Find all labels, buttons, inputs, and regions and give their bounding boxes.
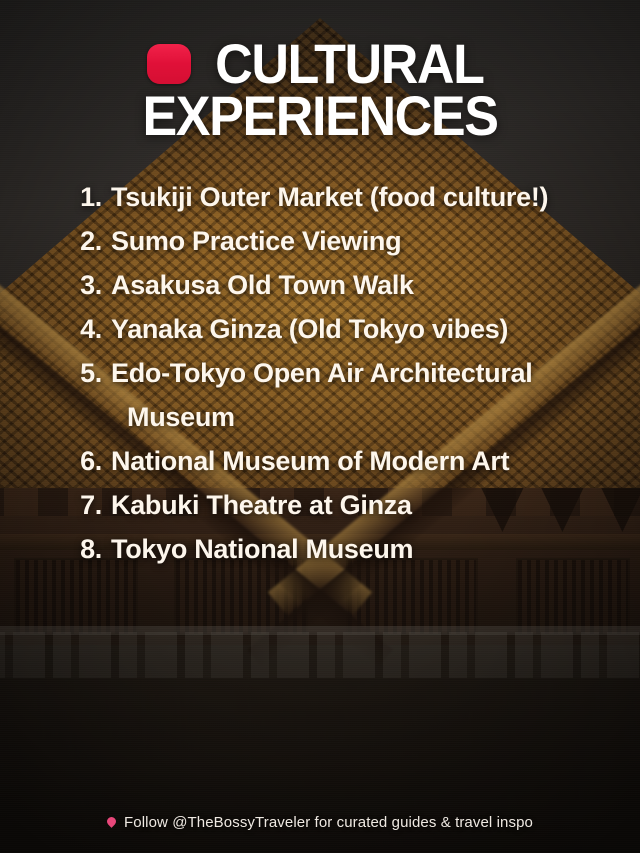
list-item-number: 6. [60,439,102,483]
footer-text: Follow @TheBossyTraveler for curated gui… [124,814,533,831]
list-item-number: 4. [60,307,102,351]
list-item-number: 1. [60,175,102,219]
list-item-label-line-2: Museum [127,395,570,439]
list-item-label: Kabuki Theatre at Ginza [111,483,570,527]
experience-list: 1. Tsukiji Outer Market (food culture!) … [60,175,580,571]
list-item: 7. Kabuki Theatre at Ginza [60,483,570,527]
list-item-number: 2. [60,219,102,263]
list-item-label: Sumo Practice Viewing [111,219,570,263]
location-pin-icon [105,815,118,828]
list-item-label: Yanaka Ginza (Old Tokyo vibes) [111,307,570,351]
list-item-label-line-1: Edo-Tokyo Open Air Architectural [111,358,532,388]
list-item: 2. Sumo Practice Viewing [60,219,570,263]
poster-canvas: CULTURAL EXPERIENCES 1. Tsukiji Outer Ma… [0,0,640,853]
title-first-row: CULTURAL [24,38,616,90]
page-title-line-2: EXPERIENCES [45,90,596,142]
list-item: 6. National Museum of Modern Art [60,439,570,483]
list-item-label: Asakusa Old Town Walk [111,263,570,307]
list-item-number: 8. [60,527,102,571]
list-item-label: Edo-Tokyo Open Air Architectural Museum [111,351,570,439]
list-item: 1. Tsukiji Outer Market (food culture!) [60,175,570,219]
list-item: 8. Tokyo National Museum [60,527,570,571]
poster-content: CULTURAL EXPERIENCES 1. Tsukiji Outer Ma… [0,0,640,853]
list-item-number: 3. [60,263,102,307]
list-item-label: National Museum of Modern Art [111,439,570,483]
list-item: 5. Edo-Tokyo Open Air Architectural Muse… [60,351,570,439]
layout-spacer [0,571,640,814]
footer-cta: Follow @TheBossyTraveler for curated gui… [0,814,640,853]
japanese-flag-icon [147,44,191,84]
list-item-number: 7. [60,483,102,527]
page-title-line-1: CULTURAL [215,38,483,90]
title-block: CULTURAL EXPERIENCES [0,38,640,141]
list-item: 3. Asakusa Old Town Walk [60,263,570,307]
list-item-number: 5. [60,351,102,395]
list-item: 4. Yanaka Ginza (Old Tokyo vibes) [60,307,570,351]
list-item-label: Tokyo National Museum [111,527,570,571]
list-item-label: Tsukiji Outer Market (food culture!) [111,175,570,219]
